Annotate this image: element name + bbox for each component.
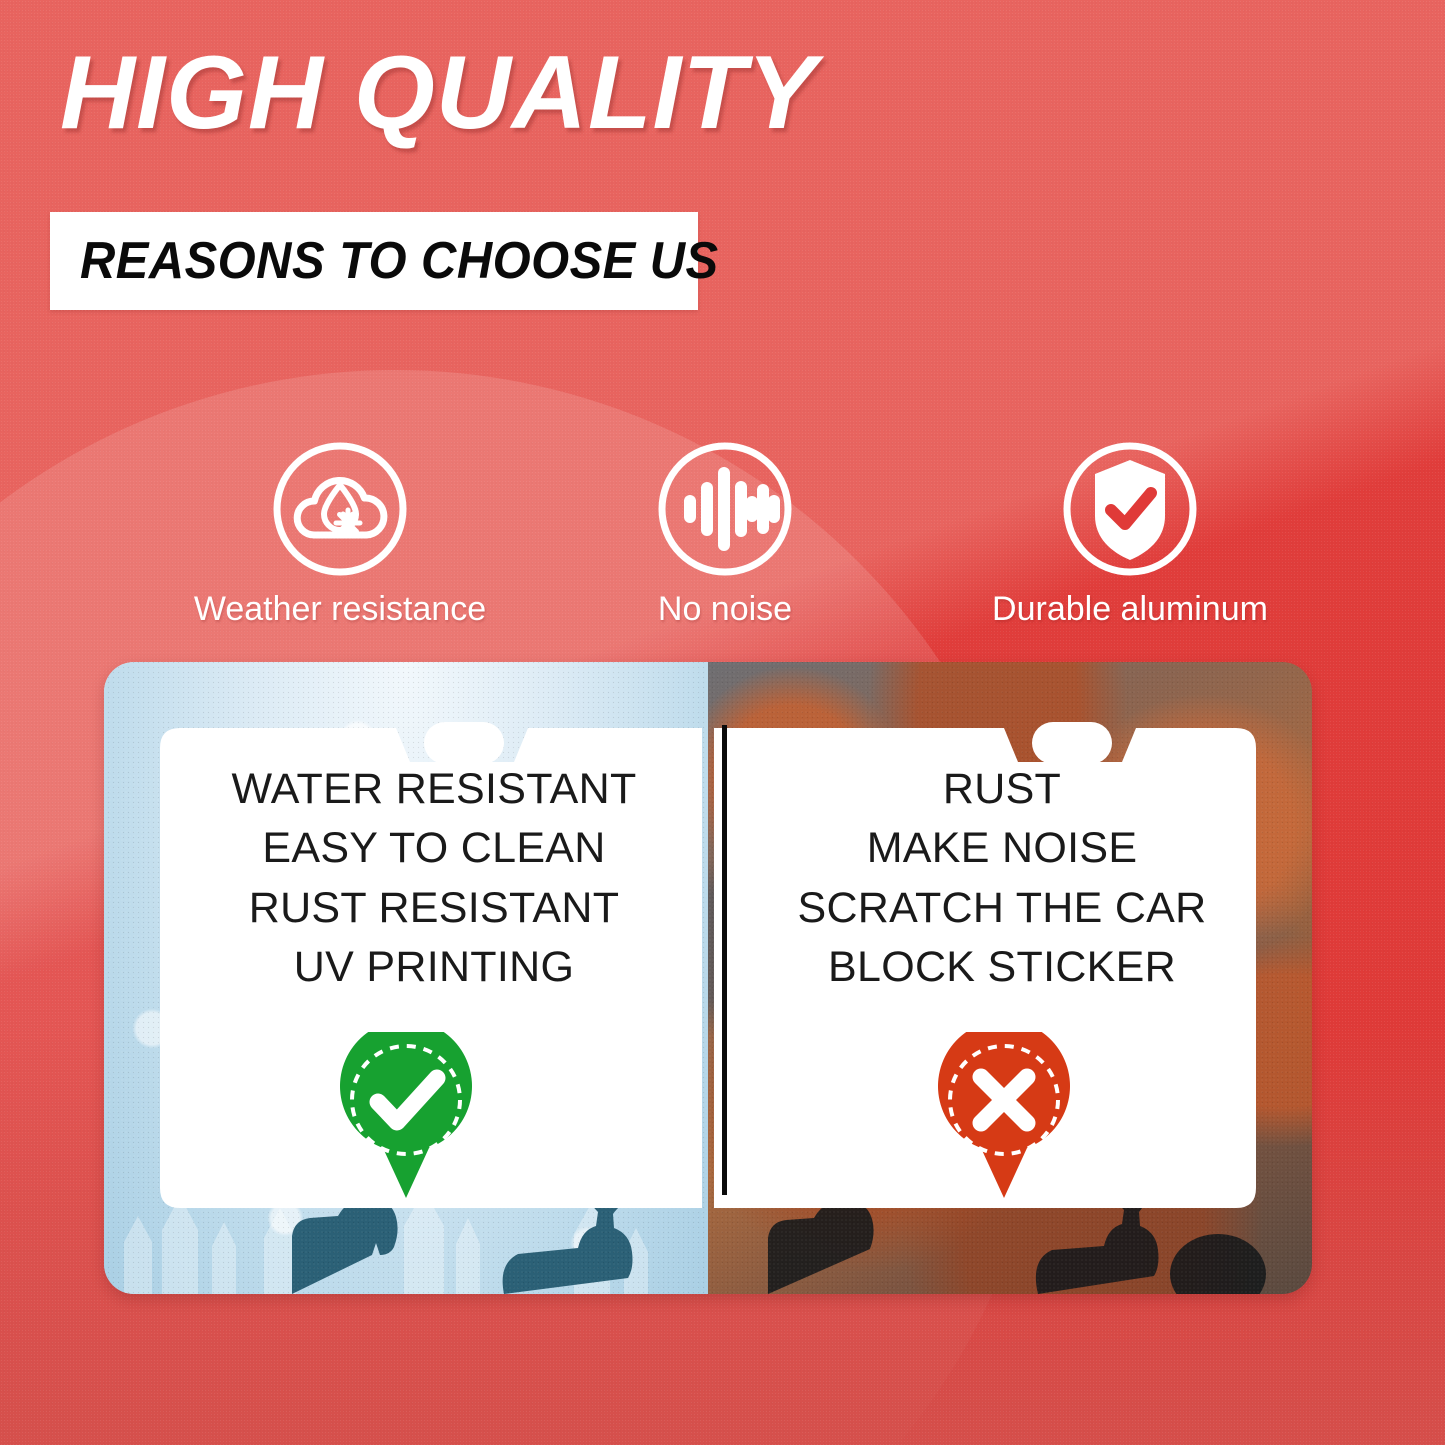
list-item: RUST RESISTANT [160,879,708,938]
page-title: HIGH QUALITY [60,40,817,146]
list-item: SCRATCH THE CAR [728,879,1276,938]
subtitle-text: REASONS TO CHOOSE US [80,231,719,291]
feature-no-noise: No noise [570,438,880,629]
feature-weather-resistance: Weather resistance [130,438,550,629]
feature-label: Durable aluminum [900,590,1360,629]
bad-cross-badge [931,1032,1077,1198]
feature-label: No noise [570,590,880,629]
list-item: WATER RESISTANT [160,760,708,819]
license-plate-frame-comparison: WATER RESISTANT EASY TO CLEAN RUST RESIS… [104,662,1312,1294]
shield-check-icon [900,438,1360,580]
list-item: RUST [728,760,1276,819]
comparison-divider [722,725,727,1195]
list-item: EASY TO CLEAN [160,819,708,878]
list-item: BLOCK STICKER [728,938,1276,997]
feature-row: Weather resistance No noise [0,438,1445,648]
list-item: UV PRINTING [160,938,708,997]
feature-label: Weather resistance [130,590,550,629]
feature-durable-aluminum: Durable aluminum [900,438,1360,629]
subtitle-banner: REASONS TO CHOOSE US [50,212,698,310]
good-check-badge [333,1032,479,1198]
sound-waveform-icon [570,438,880,580]
weather-cloud-droplet-snowflake-icon [130,438,550,580]
good-features-list: WATER RESISTANT EASY TO CLEAN RUST RESIS… [160,760,708,997]
bad-features-list: RUST MAKE NOISE SCRATCH THE CAR BLOCK ST… [728,760,1276,997]
list-item: MAKE NOISE [728,819,1276,878]
infographic-canvas: HIGH QUALITY REASONS TO CHOOSE US [0,0,1445,1445]
